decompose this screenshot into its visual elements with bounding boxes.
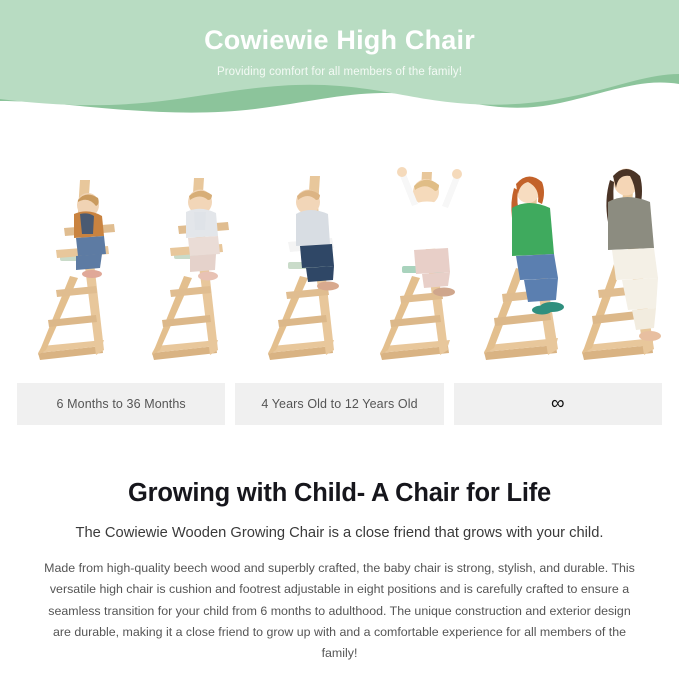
age-label-box-1: 6 Months to 36 Months <box>17 383 225 425</box>
gallery-figure-young-child-arms-raised-in-chair <box>360 150 470 365</box>
highchair-baby-illustration <box>132 150 237 365</box>
page-header: Cowiewie High Chair Providing comfort fo… <box>0 0 679 122</box>
age-label-box-3: ∞ <box>454 383 662 425</box>
highchair-toddler-illustration <box>248 150 353 365</box>
age-label-box-2: 4 Years Old to 12 Years Old <box>235 383 443 425</box>
section-lead-text: The Cowiewie Wooden Growing Chair is a c… <box>34 524 645 543</box>
product-image-gallery <box>0 128 679 373</box>
gallery-figure-smiling-baby-in-highchair-with-tray <box>132 150 237 365</box>
highchair-infant-illustration <box>18 150 123 365</box>
highchair-child-illustration <box>360 150 470 365</box>
gallery-figure-girl-in-green-top-seated-in-chair <box>468 150 578 365</box>
chair-adult-illustration <box>570 150 675 365</box>
chair-older-child-illustration <box>468 150 578 365</box>
header-text-block: Cowiewie High Chair Providing comfort fo… <box>0 0 679 78</box>
section-body-text: Made from high-quality beech wood and su… <box>34 558 645 665</box>
infinity-icon: ∞ <box>551 393 565 415</box>
page-title: Cowiewie High Chair <box>0 24 679 56</box>
age-label-text-2: 4 Years Old to 12 Years Old <box>261 397 417 411</box>
page-subtitle: Providing comfort for all members of the… <box>0 66 679 78</box>
age-range-labels: 6 Months to 36 Months 4 Years Old to 12 … <box>17 383 662 425</box>
gallery-figure-baby-toddler-in-highchair-with-tray <box>18 150 123 365</box>
gallery-figure-toddler-in-highchair-side-view <box>248 150 353 365</box>
description-section: Growing with Child- A Chair for Life The… <box>0 478 679 665</box>
gallery-figure-adult-woman-seated-in-chair <box>570 150 675 365</box>
section-heading: Growing with Child- A Chair for Life <box>34 478 645 510</box>
age-label-text-1: 6 Months to 36 Months <box>57 397 186 411</box>
